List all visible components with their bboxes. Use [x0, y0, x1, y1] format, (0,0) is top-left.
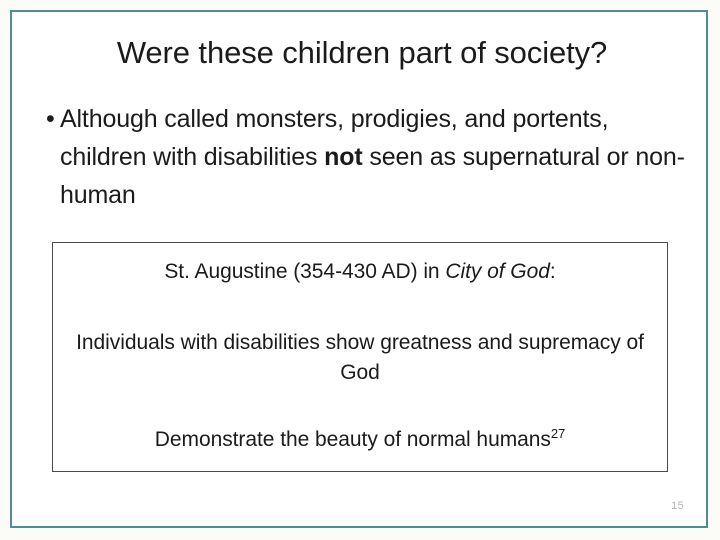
quote-attribution: St. Augustine (354-430 AD) in City of Go… [65, 257, 655, 287]
quote-statement-two: Demonstrate the beauty of normal humans2… [65, 425, 655, 455]
quote-statement-one: Individuals with disabilities show great… [65, 328, 655, 388]
page-title: Were these children part of society? [52, 34, 672, 72]
quote-box: St. Augustine (354-430 AD) in City of Go… [52, 242, 668, 472]
footnote-reference: 27 [551, 426, 565, 441]
slide-canvas: Were these children part of society? • A… [12, 12, 706, 526]
quote-attribution-work-title: City of God [445, 260, 550, 283]
quote-statement-two-text: Demonstrate the beauty of normal humans [155, 428, 551, 451]
bullet-marker-icon: • [38, 100, 60, 138]
quote-attribution-suffix: : [550, 260, 556, 283]
quote-attribution-prefix: St. Augustine (354-430 AD) in [164, 260, 445, 283]
slide-frame: Were these children part of society? • A… [10, 10, 708, 528]
list-item: • Although called monsters, prodigies, a… [38, 100, 688, 214]
slide-page-number: 15 [671, 500, 684, 512]
bullet-text-emphasis: not [324, 143, 362, 171]
bullet-list: • Although called monsters, prodigies, a… [38, 100, 688, 214]
bullet-item-text: Although called monsters, prodigies, and… [60, 100, 688, 214]
